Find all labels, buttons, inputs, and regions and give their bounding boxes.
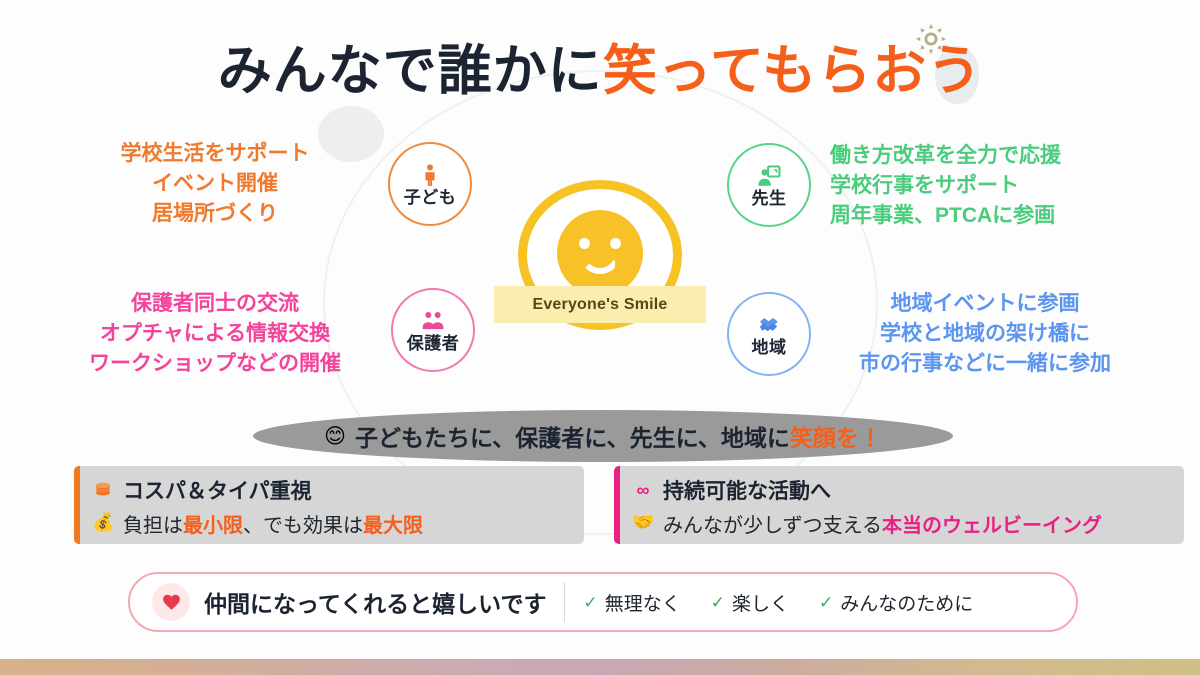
smiling-face-emoji: 😊	[324, 426, 346, 447]
teacher-board-icon	[757, 164, 781, 188]
feature-card-title-row: コスパ＆タイパ重視	[92, 475, 570, 505]
cta-chip-label: みんなのために	[840, 589, 973, 616]
role-text-parent: 保護者同士の交流 オプチャによる情報交換 ワークショップなどの開催	[55, 289, 375, 378]
title-dark-part: みんなで誰かに	[218, 41, 603, 101]
handshake-emoji-icon: 🤝	[632, 513, 654, 531]
smile-banner-plain: 子どもたちに、保護者に、先生に、地域に	[355, 425, 790, 451]
role-badge-label: 子ども	[404, 189, 457, 206]
feature-card-title-row: ∞ 持続可能な活動へ	[632, 475, 1170, 505]
role-text-local: 地域イベントに参画 学校と地域の架け橋に 市の行事などに一緒に参加	[830, 289, 1140, 378]
check-icon: ✓	[583, 594, 597, 611]
feature-card-sub-row: 🤝 みんなが少しずつ支える本当のウェルビーイング	[632, 505, 1170, 538]
title-accent-part: 笑ってもらおう	[603, 41, 983, 101]
cta-main-text: 仲間になってくれると嬉しいです	[204, 585, 546, 619]
money-bag-icon: 💰	[92, 513, 114, 531]
handshake-icon	[757, 313, 781, 337]
sub-highlight-2: 最大限	[363, 515, 423, 537]
cta-chip-list: ✓ 無理なく ✓ 楽しく ✓ みんなのために	[583, 589, 973, 616]
smile-banner-highlight: 笑顔を！	[790, 425, 882, 451]
role-badge-teacher[interactable]: 先生	[727, 143, 811, 227]
smiley-face-icon	[557, 210, 643, 296]
sub-highlight-1: 本当のウェルビーイング	[882, 515, 1102, 537]
everyones-smile-label: Everyone's Smile	[532, 296, 667, 314]
role-text-line: 市の行事などに一緒に参加	[830, 349, 1140, 379]
role-text-line: オプチャによる情報交換	[55, 319, 375, 349]
check-icon: ✓	[711, 594, 725, 611]
role-badge-label: 保護者	[407, 335, 460, 352]
role-text-teacher: 働き方改革を全力で応援 学校行事をサポート 周年事業、PTCAに参画	[830, 141, 1130, 230]
cta-chip: ✓ 無理なく	[583, 589, 680, 616]
role-badge-parent[interactable]: 保護者	[391, 288, 475, 372]
role-text-child: 学校生活をサポート イベント開催 居場所づくり	[60, 139, 370, 228]
heart-icon	[162, 593, 181, 612]
cta-chip: ✓ みんなのために	[819, 589, 973, 616]
role-text-line: 学校と地域の架け橋に	[830, 319, 1140, 349]
role-text-line: イベント開催	[60, 169, 370, 199]
role-badge-label: 先生	[752, 190, 787, 207]
stacked-coins-icon	[92, 479, 114, 502]
feature-card-cost-performance: コスパ＆タイパ重視 💰 負担は最小限、でも効果は最大限	[74, 466, 584, 544]
feature-card-sustainable-activity: ∞ 持続可能な活動へ 🤝 みんなが少しずつ支える本当のウェルビーイング	[614, 466, 1184, 544]
two-people-icon	[421, 309, 445, 333]
role-badge-label: 地域	[752, 339, 787, 356]
infinity-icon: ∞	[632, 481, 654, 499]
cta-chip-label: 無理なく	[605, 589, 681, 616]
cta-divider	[564, 582, 565, 622]
feature-card-subtitle: みんなが少しずつ支える本当のウェルビーイング	[663, 509, 1102, 538]
role-text-line: 学校生活をサポート	[60, 139, 370, 169]
role-badge-child[interactable]: 子ども	[388, 142, 472, 226]
sub-highlight-1: 最小限	[183, 515, 243, 537]
sub-middle: 、でも効果は	[243, 515, 363, 537]
smile-banner-text: 子どもたちに、保護者に、先生に、地域に笑顔を！	[355, 419, 882, 453]
role-text-line: 地域イベントに参画	[830, 289, 1140, 319]
sub-prefix: 負担は	[123, 515, 183, 537]
smile-banner: 😊 子どもたちに、保護者に、先生に、地域に笑顔を！	[253, 410, 953, 462]
smiley-mouth	[579, 252, 621, 274]
role-text-line: 働き方改革を全力で応援	[830, 141, 1130, 171]
slide-canvas: みんなで誰かに笑ってもらおう 学校生活をサポート イベント開催 居場所づくり 保…	[0, 0, 1200, 675]
heart-badge	[152, 583, 190, 621]
page-title: みんなで誰かに笑ってもらおう	[0, 26, 1200, 105]
role-text-line: 学校行事をサポート	[830, 171, 1130, 201]
cta-chip: ✓ 楽しく	[711, 589, 789, 616]
role-text-line: ワークショップなどの開催	[55, 349, 375, 379]
role-text-line: 保護者同士の交流	[55, 289, 375, 319]
sub-prefix: みんなが少しずつ支える	[663, 515, 882, 537]
feature-card-subtitle: 負担は最小限、でも効果は最大限	[123, 509, 423, 538]
cta-bar[interactable]: 仲間になってくれると嬉しいです ✓ 無理なく ✓ 楽しく ✓ みんなのために	[128, 572, 1078, 632]
check-icon: ✓	[819, 594, 833, 611]
feature-card-title: 持続可能な活動へ	[663, 475, 831, 505]
role-badge-local[interactable]: 地域	[727, 292, 811, 376]
cta-chip-label: 楽しく	[732, 589, 789, 616]
feature-card-sub-row: 💰 負担は最小限、でも効果は最大限	[92, 505, 570, 538]
smiley-eye-right	[610, 238, 621, 249]
child-person-icon	[418, 163, 442, 187]
role-text-line: 居場所づくり	[60, 199, 370, 229]
smiley-eye-left	[579, 238, 590, 249]
everyones-smile-plate: Everyone's Smile	[494, 286, 706, 323]
footer-gradient-strip	[0, 659, 1200, 675]
role-text-line: 周年事業、PTCAに参画	[830, 201, 1130, 231]
feature-card-title: コスパ＆タイパ重視	[123, 475, 312, 505]
